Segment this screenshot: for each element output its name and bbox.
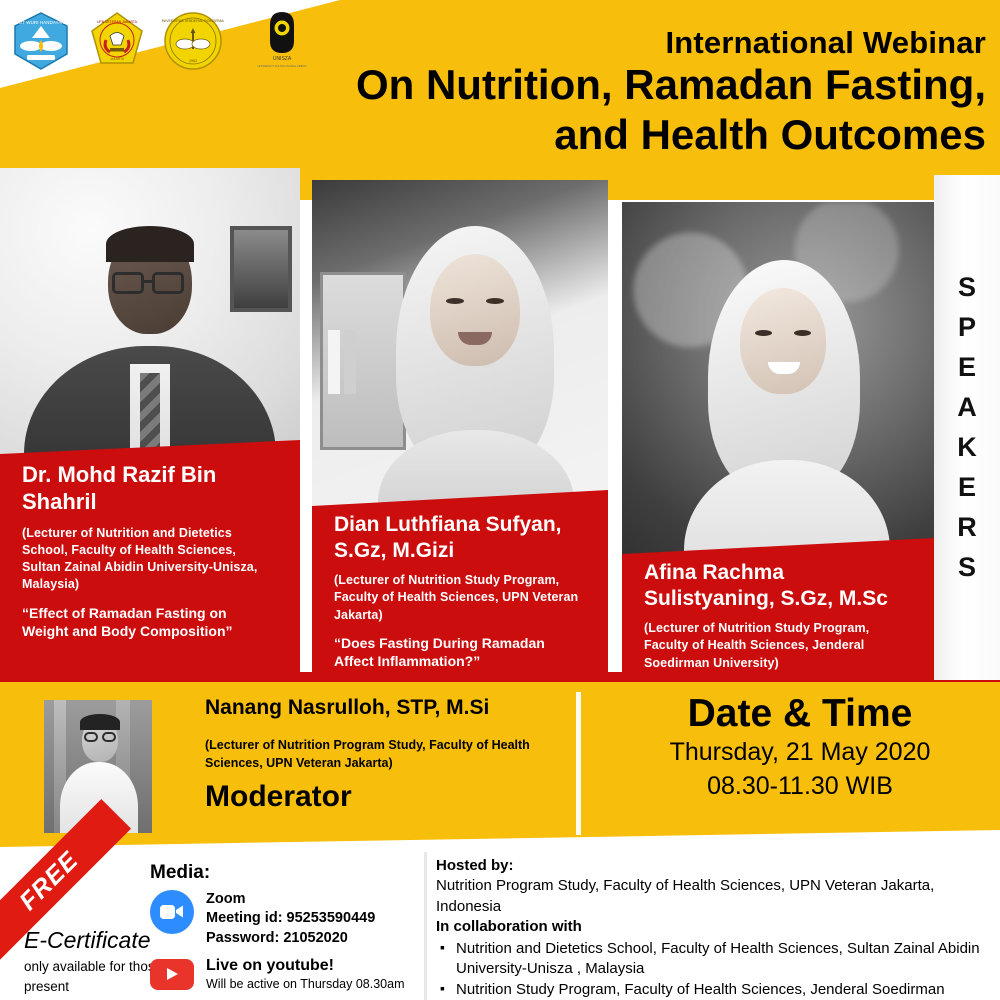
speaker-name: Dian Luthfiana Sufyan, S.Gz, M.Gizi <box>334 512 582 563</box>
list-item: Nutrition Study Program, Faculty of Heal… <box>436 980 992 1000</box>
speaker-name: Afina Rachma Sulistyaning, S.Gz, M.Sc <box>644 560 908 611</box>
zoom-password: Password: 21052020 <box>206 929 375 948</box>
date-time-block: Date & Time Thursday, 21 May 2020 08.30-… <box>600 693 1000 803</box>
band-vertical-divider <box>576 692 581 835</box>
logo-row: TUT WURI HANDAYANI UPN VETERAN JAKARTA J… <box>10 4 326 78</box>
svg-text:UPN VETERAN JAKARTA: UPN VETERAN JAKARTA <box>97 20 138 24</box>
speaker-card-3: Afina Rachma Sulistyaning, S.Gz, M.Sc (L… <box>622 538 934 680</box>
collaborators-list: Nutrition and Dietetics School, Faculty … <box>436 939 992 1000</box>
speakers-letter: K <box>957 434 977 461</box>
youtube-headline: Live on youtube! <box>206 955 404 976</box>
zoom-label: Zoom <box>206 890 375 909</box>
moderator-affiliation: (Lecturer of Nutrition Program Study, Fa… <box>205 737 565 772</box>
zoom-row: Zoom Meeting id: 95253590449 Password: 2… <box>150 890 420 948</box>
youtube-note: Will be active on Thursday 08.30am <box>206 976 404 993</box>
webinar-poster: International Webinar On Nutrition, Rama… <box>0 0 1000 1000</box>
hosted-by-value: Nutrition Program Study, Faculty of Heal… <box>436 876 992 917</box>
zoom-meeting-id: Meeting id: 95253590449 <box>206 909 375 928</box>
speakers-letter: E <box>958 354 976 381</box>
collaboration-label: In collaboration with <box>436 917 992 937</box>
header-title-block: International Webinar On Nutrition, Rama… <box>356 26 986 159</box>
speakers-letter: S <box>958 274 976 301</box>
media-heading: Media: <box>150 862 420 884</box>
speakers-letter: A <box>957 394 977 421</box>
event-date: Thursday, 21 May 2020 <box>600 736 1000 770</box>
zoom-details: Zoom Meeting id: 95253590449 Password: 2… <box>206 890 375 948</box>
svg-text:TUT WURI HANDAYANI: TUT WURI HANDAYANI <box>16 20 66 25</box>
speaker-photo-1 <box>0 168 300 476</box>
svg-text:JAKARTA: JAKARTA <box>110 57 125 61</box>
upn-veteran-jakarta-logo: UPN VETERAN JAKARTA JAKARTA <box>86 10 148 72</box>
speakers-letter: P <box>958 314 976 341</box>
zoom-icon <box>150 890 194 934</box>
webinar-kicker: International Webinar <box>356 26 986 60</box>
youtube-icon <box>150 955 194 990</box>
svg-text:UNIVERSITI SULTAN ZAINAL ABIDI: UNIVERSITI SULTAN ZAINAL ABIDIN <box>257 64 306 68</box>
unisza-logo: UNISZA UNIVERSITI SULTAN ZAINAL ABIDIN <box>238 10 326 72</box>
speaker-talk-title: “Effect of Ramadan Fasting on Weight and… <box>22 604 274 641</box>
event-time: 08.30-11.30 WIB <box>600 770 1000 804</box>
media-block: Media: Zoom Meeting id: 95253590449 Pass… <box>150 862 420 1000</box>
speaker-affiliation: (Lecturer of Nutrition Study Program, Fa… <box>334 572 582 624</box>
speaker-photo-2 <box>312 180 608 537</box>
svg-text:1963: 1963 <box>189 59 197 63</box>
speakers-letter: R <box>957 514 977 541</box>
moderator-role-label: Moderator <box>205 780 565 814</box>
speakers-letter: S <box>958 554 976 581</box>
moderator-info: Nanang Nasrulloh, STP, M.Si (Lecturer of… <box>205 695 565 814</box>
speaker-affiliation: (Lecturer of Nutrition and Dietetics Sch… <box>22 525 274 594</box>
tut-wuri-handayani-logo: TUT WURI HANDAYANI <box>10 10 72 72</box>
universitas-jenderal-soedirman-logo: UNIVERSITAS JENDERAL SOEDIRMAN 1963 <box>162 10 224 72</box>
list-item: Nutrition and Dietetics School, Faculty … <box>436 939 992 979</box>
hosted-by-label: Hosted by: <box>436 856 992 876</box>
page-title-line1: On Nutrition, Ramadan Fasting, <box>356 60 986 110</box>
footer-vertical-divider <box>424 852 427 1000</box>
date-time-heading: Date & Time <box>600 693 1000 736</box>
svg-text:UNISZA: UNISZA <box>273 56 292 62</box>
speakers-vertical-label: S P E A K E R S <box>934 175 1000 680</box>
youtube-details: Live on youtube! Will be active on Thurs… <box>206 955 404 993</box>
youtube-row: Live on youtube! Will be active on Thurs… <box>150 955 420 993</box>
page-title-line2: and Health Outcomes <box>356 110 986 160</box>
speaker-talk-title: “Does Fasting During Ramadan Affect Infl… <box>334 634 582 671</box>
speaker-affiliation: (Lecturer of Nutrition Study Program, Fa… <box>644 620 908 672</box>
svg-text:UNIVERSITAS JENDERAL SOEDIRMAN: UNIVERSITAS JENDERAL SOEDIRMAN <box>162 19 224 23</box>
moderator-name: Nanang Nasrulloh, STP, M.Si <box>205 695 565 720</box>
hosted-by-block: Hosted by: Nutrition Program Study, Facu… <box>436 856 992 1000</box>
speakers-letter: E <box>958 474 976 501</box>
speaker-card-2: Dian Luthfiana Sufyan, S.Gz, M.Gizi (Lec… <box>312 490 608 680</box>
speaker-card-1: Dr. Mohd Razif Bin Shahril (Lecturer of … <box>0 440 300 680</box>
speaker-name: Dr. Mohd Razif Bin Shahril <box>22 462 274 516</box>
